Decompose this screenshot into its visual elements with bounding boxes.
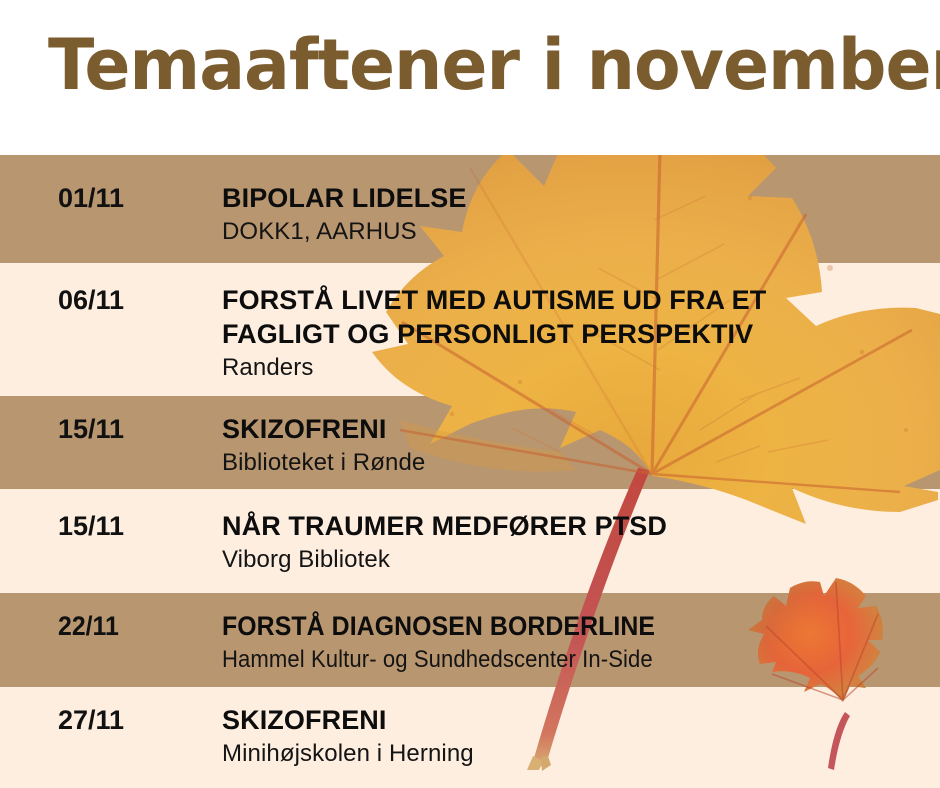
event-body: NÅR TRAUMER MEDFØRER PTSD Viborg Bibliot… bbox=[222, 509, 934, 575]
event-date: 22/11 bbox=[58, 611, 119, 642]
event-venue: Viborg Bibliotek bbox=[222, 545, 934, 575]
event-row-5: 22/11 FORSTÅ DIAGNOSEN BORDERLINE Hammel… bbox=[0, 593, 940, 687]
event-row-6: 27/11 SKIZOFRENI Minihøjskolen i Herning bbox=[0, 687, 940, 788]
title-bar: Temaaftener i november bbox=[0, 0, 940, 155]
event-body: SKIZOFRENI Biblioteket i Rønde bbox=[222, 412, 934, 478]
event-title: NÅR TRAUMER MEDFØRER PTSD bbox=[222, 509, 934, 543]
event-date: 06/11 bbox=[58, 285, 124, 316]
event-title: FORSTÅ LIVET MED AUTISME UD FRA ET FAGLI… bbox=[222, 283, 934, 351]
event-venue: DOKK1, AARHUS bbox=[222, 217, 934, 247]
event-date: 15/11 bbox=[58, 511, 124, 542]
event-venue: Randers bbox=[222, 353, 934, 383]
event-body: SKIZOFRENI Minihøjskolen i Herning bbox=[222, 703, 934, 769]
event-row-3: 15/11 SKIZOFRENI Biblioteket i Rønde bbox=[0, 396, 940, 489]
event-row-1: 01/11 BIPOLAR LIDELSE DOKK1, AARHUS bbox=[0, 155, 940, 263]
poster-canvas: Temaaftener i november 01/11 BIPOLAR LID… bbox=[0, 0, 940, 788]
event-row-2: 06/11 FORSTÅ LIVET MED AUTISME UD FRA ET… bbox=[0, 263, 940, 396]
event-title: SKIZOFRENI bbox=[222, 703, 934, 737]
event-body: BIPOLAR LIDELSE DOKK1, AARHUS bbox=[222, 181, 934, 247]
event-venue: Minihøjskolen i Herning bbox=[222, 739, 934, 769]
event-date: 15/11 bbox=[58, 414, 124, 445]
page-title: Temaaftener i november bbox=[48, 26, 940, 104]
event-body: FORSTÅ DIAGNOSEN BORDERLINE Hammel Kultu… bbox=[222, 609, 934, 675]
event-title: SKIZOFRENI bbox=[222, 412, 934, 446]
event-date: 01/11 bbox=[58, 183, 124, 214]
event-venue: Biblioteket i Rønde bbox=[222, 448, 934, 478]
event-body: FORSTÅ LIVET MED AUTISME UD FRA ET FAGLI… bbox=[222, 283, 934, 383]
event-title: FORSTÅ DIAGNOSEN BORDERLINE bbox=[222, 609, 877, 643]
event-date: 27/11 bbox=[58, 705, 124, 736]
event-venue: Hammel Kultur- og Sundhedscenter In-Side bbox=[222, 645, 877, 675]
event-row-4: 15/11 NÅR TRAUMER MEDFØRER PTSD Viborg B… bbox=[0, 489, 940, 593]
event-title: BIPOLAR LIDELSE bbox=[222, 181, 934, 215]
